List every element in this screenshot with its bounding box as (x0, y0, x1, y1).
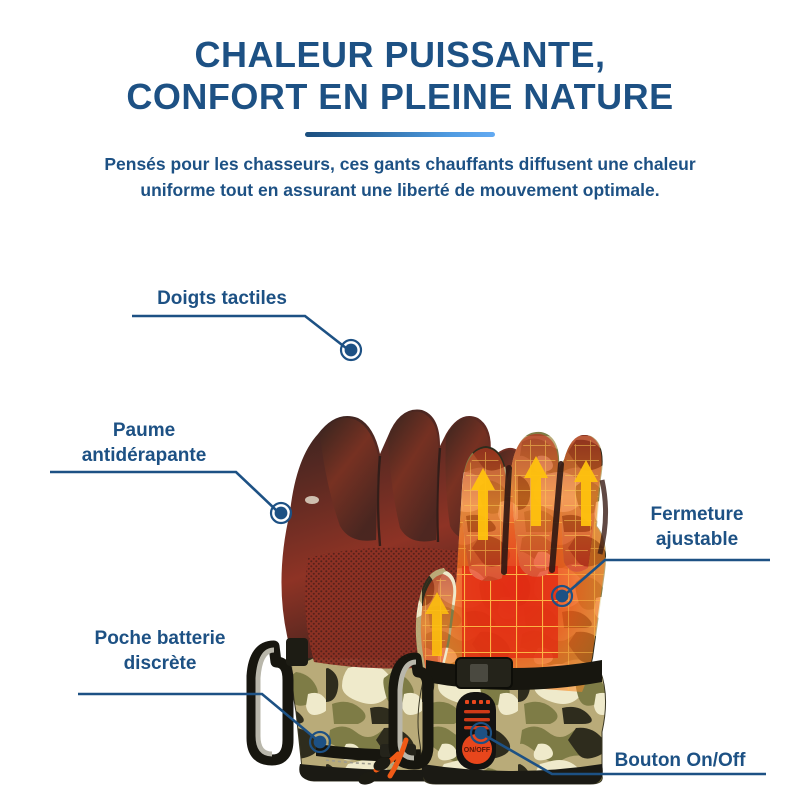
title-line-1: CHALEUR PUISSANTE, (194, 34, 605, 75)
callout-paume-antiderapante-line2: antidérapante (44, 443, 244, 468)
subtitle-line-2: uniforme tout en assurant une liberté de… (20, 177, 780, 203)
callout-bouton-on-off-line1: Bouton On/Off (580, 748, 780, 773)
callout-paume-antiderapante-line1: Paume (44, 418, 244, 443)
title-line-2: CONFORT EN PLEINE NATURE (0, 76, 800, 118)
gloves-illustration: ON/OFF (230, 340, 630, 785)
callout-poche-batterie[interactable]: Poche batterie discrète (62, 626, 258, 676)
subtitle-line-1: Pensés pour les chasseurs, ces gants cha… (20, 151, 780, 177)
subtitle: Pensés pour les chasseurs, ces gants cha… (20, 151, 780, 203)
callout-poche-batterie-line2: discrète (62, 651, 258, 676)
title-divider (305, 132, 495, 137)
callout-fermeture-ajustable-line2: ajustable (612, 527, 782, 552)
callout-paume-antiderapante[interactable]: Paume antidérapante (44, 418, 244, 468)
infographic-canvas: CHALEUR PUISSANTE, CONFORT EN PLEINE NAT… (0, 0, 800, 800)
page-title: CHALEUR PUISSANTE, CONFORT EN PLEINE NAT… (0, 0, 800, 118)
callout-doigts-tactiles-line1: Doigts tactiles (132, 286, 312, 311)
callout-poche-batterie-line1: Poche batterie (62, 626, 258, 651)
power-button-label: ON/OFF (464, 747, 491, 754)
on-off-control-panel[interactable]: ON/OFF (456, 692, 496, 770)
callout-fermeture-ajustable[interactable]: Fermeture ajustable (612, 502, 782, 552)
callout-doigts-tactiles[interactable]: Doigts tactiles (132, 286, 312, 311)
callout-fermeture-ajustable-line1: Fermeture (612, 502, 782, 527)
product-image-gloves: ON/OFF (230, 340, 630, 785)
header-block: CHALEUR PUISSANTE, CONFORT EN PLEINE NAT… (0, 0, 800, 203)
callout-bouton-on-off[interactable]: Bouton On/Off (580, 748, 780, 773)
